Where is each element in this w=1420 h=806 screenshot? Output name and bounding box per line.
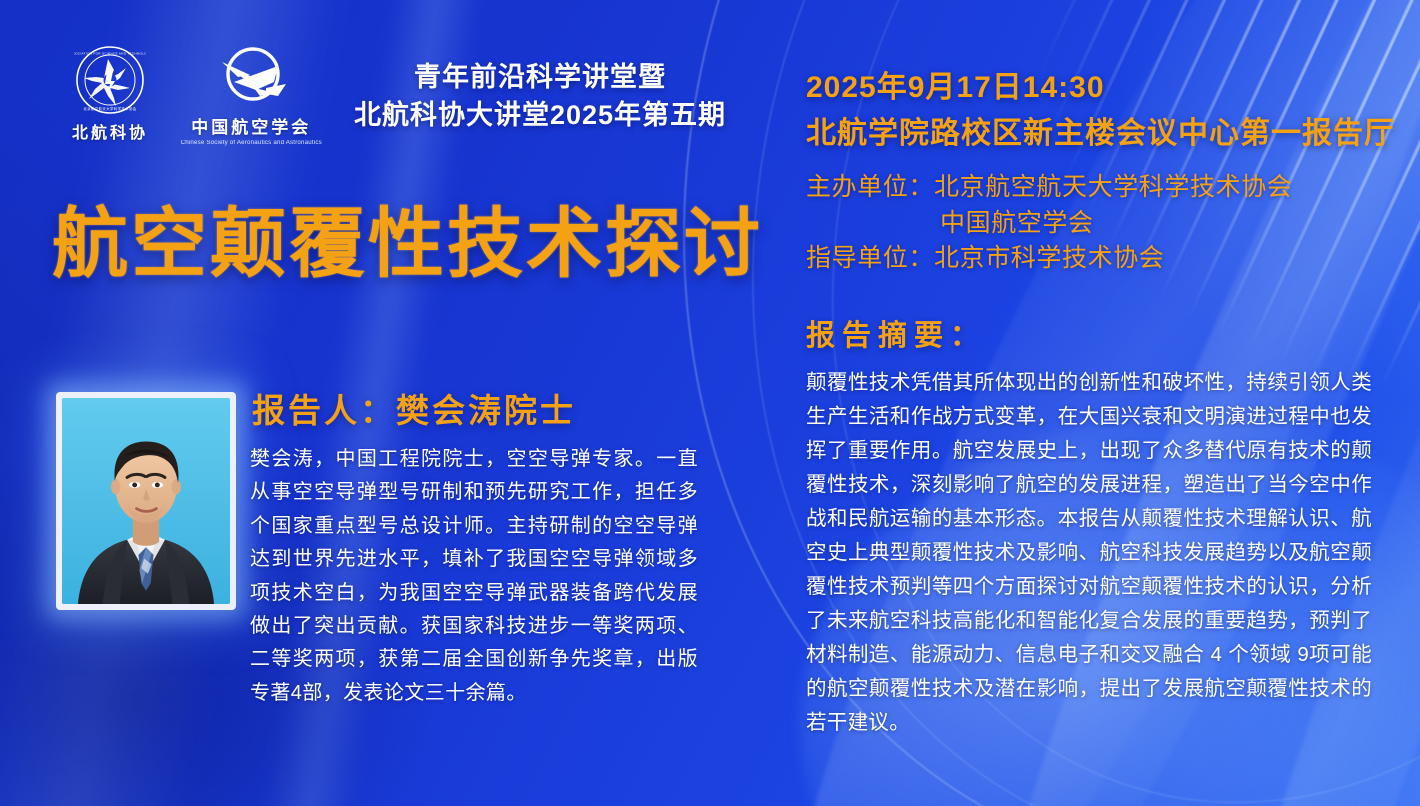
page-title: 航空颠覆性技术探讨 [52, 207, 763, 283]
organizer-line-1: 主办单位：北京航空航天大学科学技术协会 [806, 170, 1292, 206]
header-title: 青年前沿科学讲堂暨 北航科协大讲堂2025年第五期 [330, 58, 750, 135]
logo-csaa: 中国航空学会 Chinese Society of Aeronautics an… [182, 44, 320, 146]
svg-text:ASSOCIATION FOR SCIENCE AND TE: ASSOCIATION FOR SCIENCE AND TECHNOLOGY [74, 52, 146, 56]
circular-emblem-icon: ASSOCIATION FOR SCIENCE AND TECHNOLOGY 北… [74, 44, 146, 116]
speaker-biography: 樊会涛，中国工程院院士，空空导弹专家。一直从事空空导弹型号研制和预先研究工作，担… [250, 443, 698, 710]
speaker-portrait-frame [56, 392, 236, 610]
speaker-portrait-photo [62, 398, 230, 604]
supervisor-line: 指导单位：北京市科学技术协会 [806, 241, 1292, 277]
speaker-heading: 报告人：樊会涛院士 [252, 384, 576, 432]
event-poster: ASSOCIATION FOR SCIENCE AND TECHNOLOGY 北… [0, 0, 1420, 806]
logo-buaa-kexie-label: 北航科协 [72, 119, 148, 143]
organizer-line-2: 中国航空学会 [806, 206, 1292, 242]
event-venue: 北航学院路校区新主楼会议中心第一报告厅 [806, 108, 1395, 152]
logo-buaa-kexie: ASSOCIATION FOR SCIENCE AND TECHNOLOGY 北… [72, 44, 148, 143]
header-title-line-2: 北航科协大讲堂2025年第五期 [330, 96, 750, 134]
logo-csaa-label: 中国航空学会 [191, 113, 311, 138]
logo-group: ASSOCIATION FOR SCIENCE AND TECHNOLOGY 北… [72, 44, 321, 146]
event-datetime: 2025年9月17日14:30 [806, 62, 1105, 106]
abstract-heading: 报告摘要： [806, 312, 986, 354]
svg-text:北京航空航天大学科学技术协会: 北京航空航天大学科学技术协会 [83, 106, 136, 111]
aircraft-circle-icon [208, 44, 294, 110]
organizer-block: 主办单位：北京航空航天大学科学技术协会 中国航空学会 指导单位：北京市科学技术协… [806, 170, 1292, 277]
abstract-body: 颠覆性技术凭借其所体现出的创新性和破坏性，持续引领人类生产生活和作战方式变革，在… [806, 366, 1372, 740]
logo-csaa-english-label: Chinese Society of Aeronautics and Astro… [181, 140, 322, 146]
header-title-line-1: 青年前沿科学讲堂暨 [330, 58, 750, 96]
